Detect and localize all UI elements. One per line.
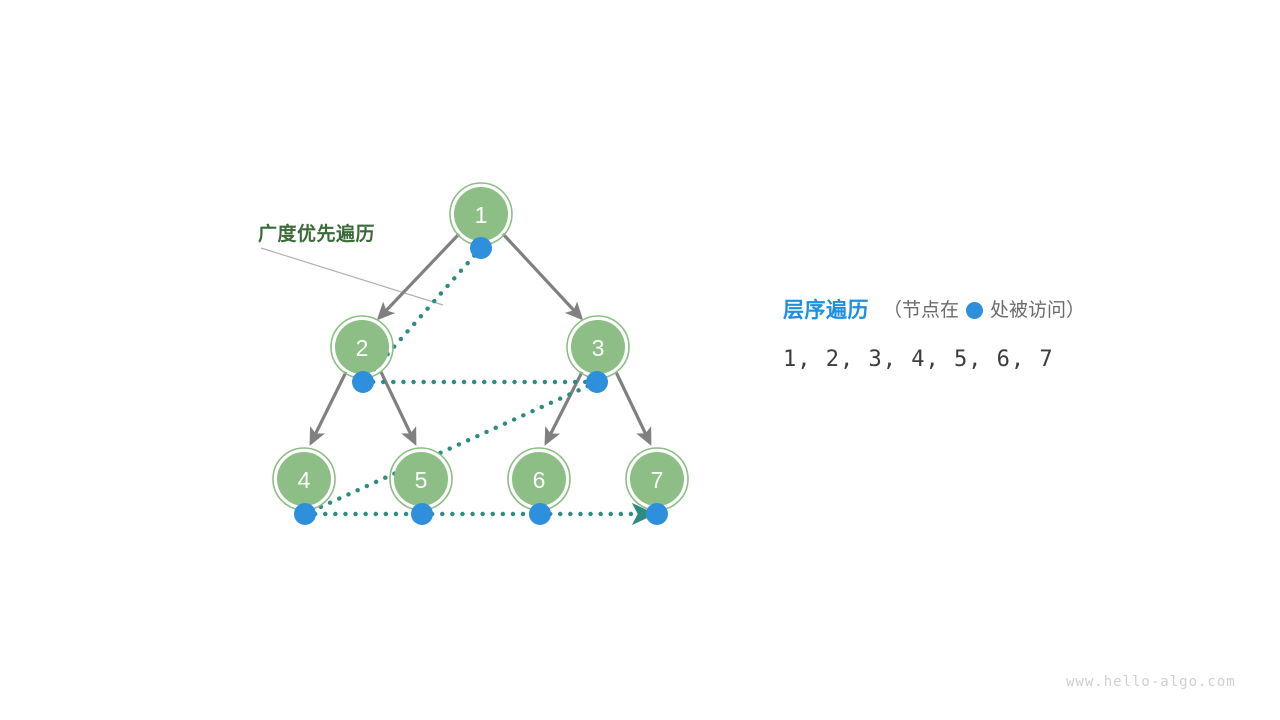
visit-dot-legend-icon xyxy=(966,302,983,319)
edge-1-3 xyxy=(503,234,581,318)
tree-node-5[interactable]: 5 xyxy=(390,448,452,510)
tree-node-2[interactable]: 2 xyxy=(331,316,393,378)
tree-node-1-label: 1 xyxy=(475,202,488,228)
level-order-note-open: （节点在 xyxy=(883,301,959,320)
level-order-headline: 层序遍历 （节点在 处被访问） xyxy=(783,300,1203,321)
visit-dot-node-5[interactable] xyxy=(411,503,433,525)
level-order-title: 层序遍历 xyxy=(783,300,869,321)
caption-leader-line xyxy=(261,248,443,305)
bfs-caption-label: 广度优先遍历 xyxy=(258,219,375,246)
tree-node-7[interactable]: 7 xyxy=(626,448,688,510)
tree-node-5-label: 5 xyxy=(415,467,428,493)
level-order-panel: 层序遍历 （节点在 处被访问） 1, 2, 3, 4, 5, 6, 7 xyxy=(783,300,1203,372)
tree-node-3-label: 3 xyxy=(592,335,605,361)
level-order-note: （节点在 处被访问） xyxy=(883,301,1085,320)
tree-node-6-label: 6 xyxy=(533,467,546,493)
visit-dot-node-7[interactable] xyxy=(646,503,668,525)
edge-2-5 xyxy=(381,372,415,443)
tree-node-4[interactable]: 4 xyxy=(273,448,335,510)
visit-dots xyxy=(294,237,668,525)
tree-node-6[interactable]: 6 xyxy=(508,448,570,510)
level-order-note-close: 处被访问） xyxy=(990,301,1085,320)
visit-dot-node-4[interactable] xyxy=(294,503,316,525)
edge-1-2 xyxy=(379,234,459,318)
site-watermark: www.hello-algo.com xyxy=(1066,674,1236,690)
tree-node-3[interactable]: 3 xyxy=(567,316,629,378)
visit-dot-node-2[interactable] xyxy=(352,371,374,393)
tree-node-1[interactable]: 1 xyxy=(450,183,512,245)
visit-dot-node-1[interactable] xyxy=(470,237,492,259)
tree-node-4-label: 4 xyxy=(298,467,311,493)
visit-dot-node-6[interactable] xyxy=(529,503,551,525)
tree-node-2-label: 2 xyxy=(356,335,369,361)
tree-node-7-label: 7 xyxy=(651,467,664,493)
visit-dot-node-3[interactable] xyxy=(586,371,608,393)
diagram-canvas: 1 2 3 4 5 xyxy=(0,0,1280,720)
edge-3-7 xyxy=(616,372,650,443)
level-order-sequence: 1, 2, 3, 4, 5, 6, 7 xyxy=(783,347,1203,372)
edge-2-4 xyxy=(311,372,346,443)
